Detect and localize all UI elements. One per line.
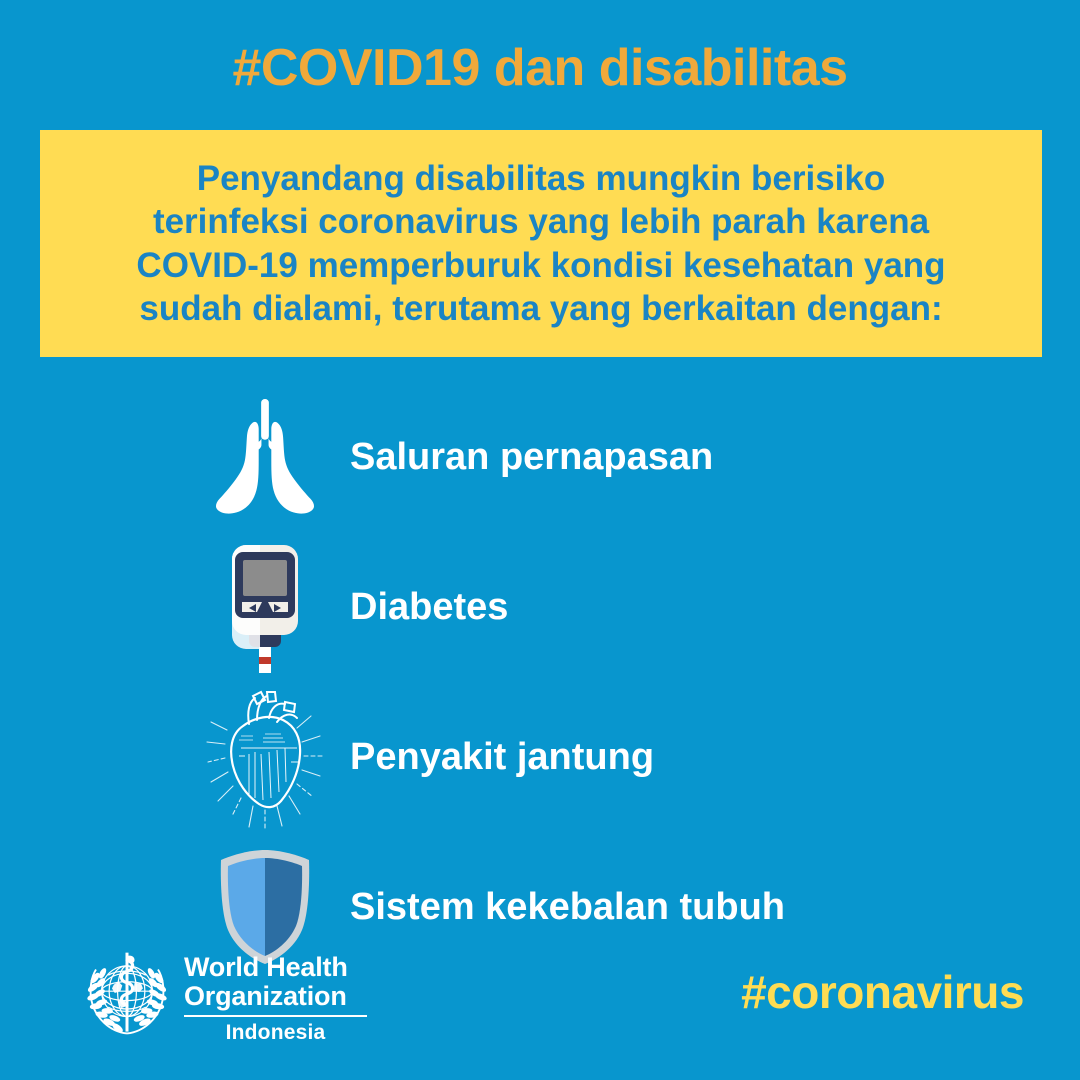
who-logo: World Health Organization Indonesia — [80, 947, 367, 1045]
list-item-label: Diabetes — [350, 586, 508, 629]
callout-box: Penyandang disabilitas mungkin berisiko … — [40, 130, 1042, 357]
who-emblem-icon — [80, 947, 174, 1041]
lungs-icon — [196, 387, 334, 527]
list-item: Saluran pernapasan — [0, 382, 1080, 532]
anatomical-heart-icon — [196, 687, 334, 827]
risk-condition-list: Saluran pernapasan — [0, 382, 1080, 982]
who-name-line-1: World Health — [184, 953, 367, 982]
list-item-label: Penyakit jantung — [350, 736, 654, 779]
list-item-label: Saluran pernapasan — [350, 436, 713, 479]
who-divider — [184, 1015, 367, 1017]
who-wordmark: World Health Organization Indonesia — [184, 947, 367, 1045]
callout-line: terinfeksi coronavirus yang lebih parah … — [54, 200, 1028, 243]
who-country-label: Indonesia — [184, 1021, 367, 1045]
callout-line: sudah dialami, terutama yang berkaitan d… — [54, 287, 1028, 330]
callout-line: COVID-19 memperburuk kondisi kesehatan y… — [54, 244, 1028, 287]
list-item: Penyakit jantung — [0, 682, 1080, 832]
who-name-line-2: Organization — [184, 982, 367, 1011]
page-title: #COVID19 dan disabilitas — [0, 42, 1080, 94]
list-item-label: Sistem kekebalan tubuh — [350, 886, 785, 929]
glucose-meter-icon — [196, 537, 334, 677]
hashtag-coronavirus: #coronavirus — [741, 965, 1024, 1019]
callout-text: Penyandang disabilitas mungkin berisiko … — [40, 157, 1042, 331]
callout-line: Penyandang disabilitas mungkin berisiko — [54, 157, 1028, 200]
list-item: Diabetes — [0, 532, 1080, 682]
